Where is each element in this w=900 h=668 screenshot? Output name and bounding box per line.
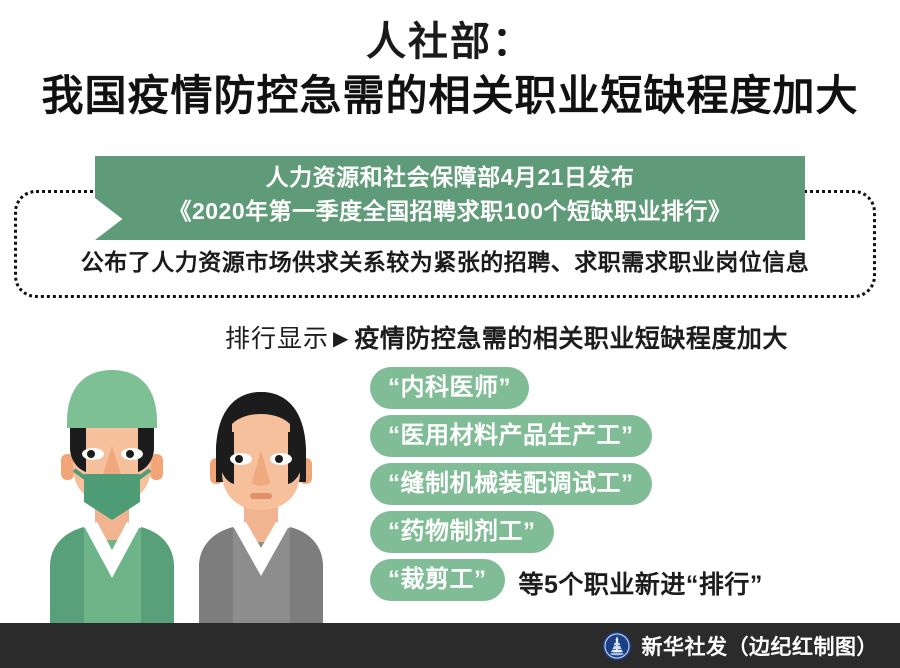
pill-row: “缝制机械装配调试工” xyxy=(370,463,763,505)
doctor-with-mask xyxy=(50,370,174,624)
title-line-1: 人社部： xyxy=(0,16,900,68)
ribbon-text-block: 人力资源和社会保障部4月21日发布 《2020年第一季度全国招聘求职100个短缺… xyxy=(95,160,805,228)
triangle-marker-icon: ▶ xyxy=(333,328,348,350)
occupation-suffix-text: 等5个职业新进“排行” xyxy=(519,565,763,601)
pill-row: “内科医师” xyxy=(370,367,763,409)
ribbon-line-2: 《2020年第一季度全国招聘求职100个短缺职业排行》 xyxy=(95,194,805,228)
footer-credit-group: 新华社发（边纪红制图） xyxy=(602,623,879,668)
occupation-pill: “医用材料产品生产工” xyxy=(370,415,652,457)
ribbon-line-1: 人力资源和社会保障部4月21日发布 xyxy=(95,160,805,194)
occupation-pill-list: “内科医师” “医用材料产品生产工” “缝制机械装配调试工” “药物制剂工” “… xyxy=(370,367,763,607)
occupation-pill: “内科医师” xyxy=(370,367,529,409)
occupation-pill: “裁剪工” xyxy=(370,559,505,601)
title-line-2: 我国疫情防控急需的相关职业短缺程度加大 xyxy=(0,68,900,124)
infographic-root: 人社部： 我国疫情防控急需的相关职业短缺程度加大 公布了人力资源市场供求关系较为… xyxy=(0,0,900,668)
pill-row: “医用材料产品生产工” xyxy=(370,415,763,457)
worker-figure xyxy=(199,392,323,624)
pill-row: “药物制剂工” xyxy=(370,511,763,553)
xinhua-logo xyxy=(602,631,632,661)
subheadline: 排行显示▶疫情防控急需的相关职业短缺程度加大 xyxy=(225,323,788,357)
pill-row: “裁剪工”等5个职业新进“排行” xyxy=(370,559,763,601)
page-title: 人社部： 我国疫情防控急需的相关职业短缺程度加大 xyxy=(0,16,900,124)
subheadline-label: 排行显示 xyxy=(225,325,329,353)
subheadline-statement: 疫情防控急需的相关职业短缺程度加大 xyxy=(354,325,788,353)
notice-box-text: 公布了人力资源市场供求关系较为紧张的招聘、求职需求职业岗位信息 xyxy=(14,243,876,277)
occupation-pill: “缝制机械装配调试工” xyxy=(370,463,652,505)
footer-bar: 新华社发（边纪红制图） xyxy=(0,623,900,668)
footer-credit-text: 新华社发（边纪红制图） xyxy=(642,631,879,661)
illustration-two-figures xyxy=(28,362,358,624)
occupation-pill: “药物制剂工” xyxy=(370,511,554,553)
